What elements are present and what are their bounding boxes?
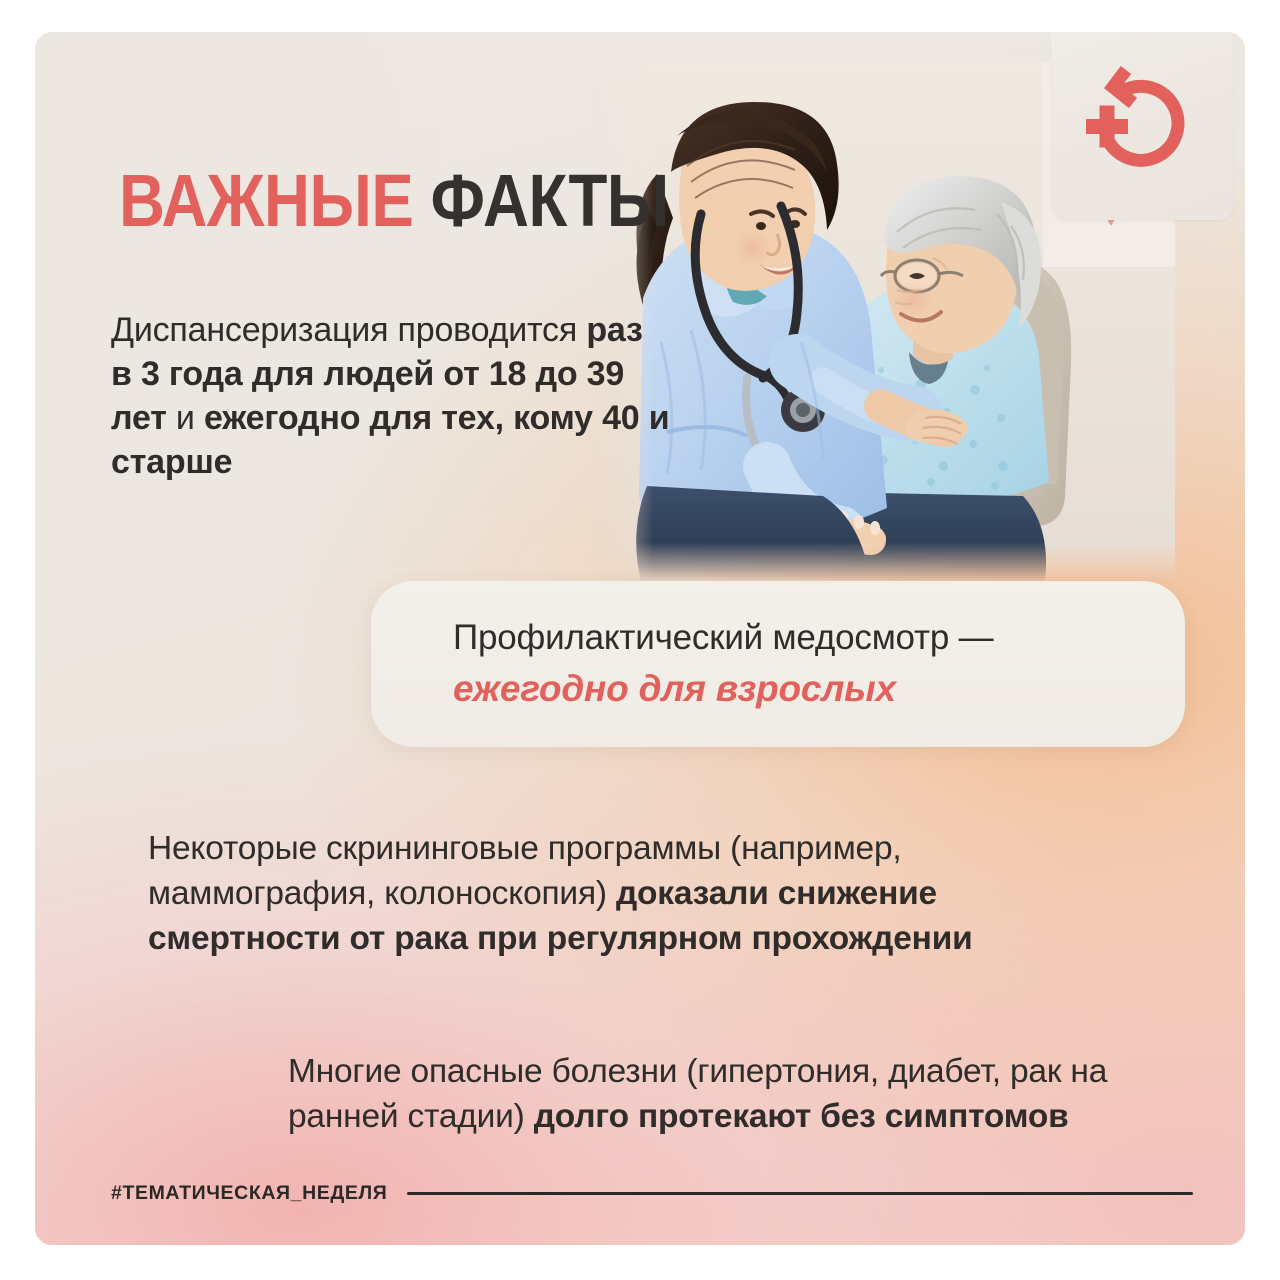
- fact-paragraph-dispanserizatsiya: Диспансеризация проводится раз в 3 года …: [111, 309, 671, 484]
- footer-divider: [407, 1192, 1193, 1195]
- fact-paragraph-bez-simptomov: Многие опасные болезни (гипертония, диаб…: [288, 1049, 1158, 1140]
- callout-line-1: Профилактический медосмотр —: [453, 616, 1185, 661]
- title-rest: ФАКТЫ: [431, 159, 669, 242]
- page-title: ВАЖНЫЕ ФАКТЫ: [119, 164, 669, 238]
- medical-cross-refresh-badge: [1051, 32, 1233, 220]
- poster-card: ВАЖНЫЕ ФАКТЫ Диспансеризация проводится …: [35, 32, 1245, 1245]
- title-highlight: ВАЖНЫЕ: [119, 159, 413, 242]
- footer: #ТЕМАТИЧЕСКАЯ_НЕДЕЛЯ: [111, 1182, 1193, 1205]
- medical-cross-refresh-icon: [1078, 66, 1206, 186]
- fact-paragraph-screening: Некоторые скрининговые программы (наприм…: [148, 826, 1028, 962]
- hashtag-label: #ТЕМАТИЧЕСКАЯ_НЕДЕЛЯ: [111, 1182, 387, 1205]
- callout-line-2: ежегодно для взрослых: [453, 665, 1185, 712]
- callout-card: Профилактический медосмотр — ежегодно дл…: [371, 581, 1185, 747]
